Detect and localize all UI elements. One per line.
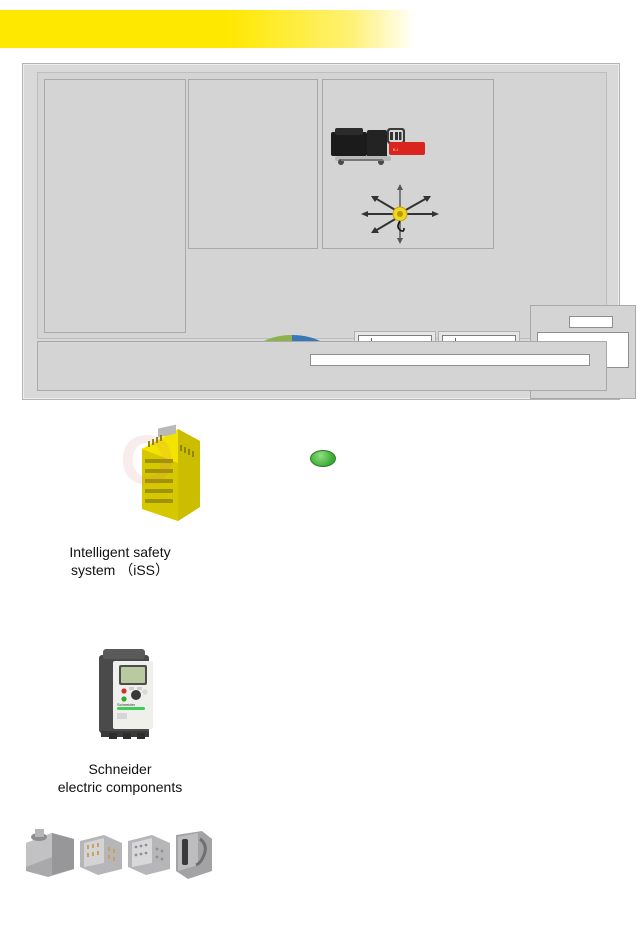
- hmi-panel: K.I: [22, 63, 620, 400]
- svg-text:Schneider: Schneider: [117, 702, 136, 707]
- caption-iss-line2: system （iSS）: [10, 561, 230, 579]
- hmi-screen: K.I: [37, 72, 607, 339]
- caption-schneider: Schneider electric components: [10, 760, 230, 796]
- warning-lights-group: [37, 341, 607, 391]
- caption-schneider-line2: electric components: [10, 778, 230, 796]
- iss-device-image: [118, 415, 204, 535]
- caption-schneider-line1: Schneider: [10, 760, 230, 778]
- info-value: [310, 354, 590, 366]
- load-group: [188, 79, 318, 249]
- status-group: [44, 79, 186, 333]
- caption-iss-line1: Intelligent safety: [10, 543, 230, 561]
- lower-section: Intelligent safety system （iSS） Schneide…: [0, 400, 640, 950]
- error-no-value: [569, 316, 613, 328]
- aviation-plugs-image: [22, 825, 217, 885]
- direction-arrows: [343, 180, 458, 246]
- title-banner: [0, 10, 415, 48]
- iss-visual-group: K.I: [322, 79, 494, 249]
- svg-text:K.I: K.I: [393, 147, 398, 152]
- caption-iss: Intelligent safety system （iSS）: [10, 543, 230, 579]
- hoist-image: K.I: [329, 126, 449, 181]
- schneider-vfd-image: Schneider: [95, 645, 165, 745]
